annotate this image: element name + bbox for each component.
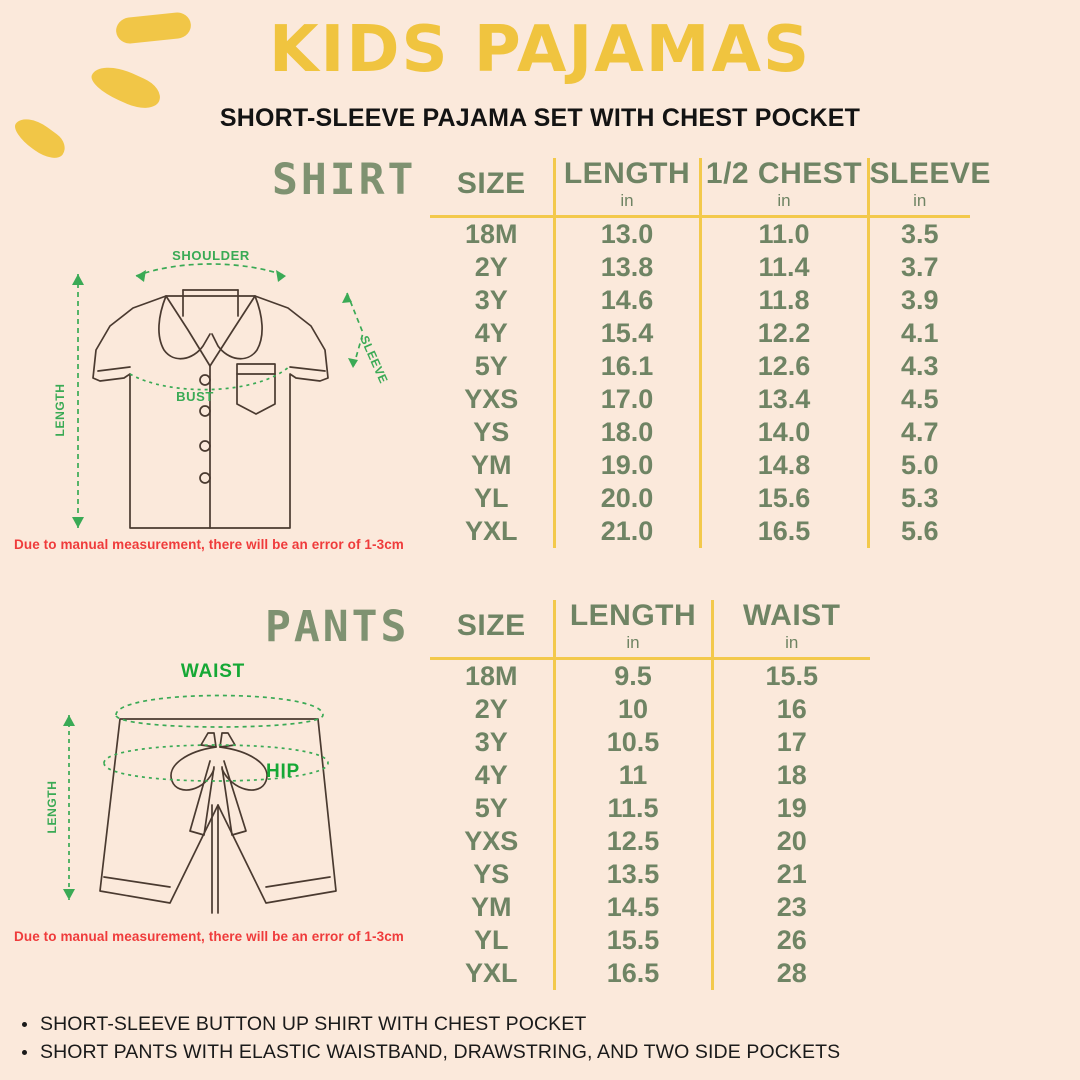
- table-row: YL20.015.65.3: [430, 482, 970, 515]
- shirt-cell-length: 16.1: [554, 350, 700, 383]
- shirt-measurement-diagram: SHOULDER SLEEVE BUST LENGTH: [38, 238, 413, 538]
- pants-cell-length: 16.5: [554, 957, 712, 990]
- shirt-cell-sleeve: 3.7: [868, 251, 970, 284]
- table-row: YXS12.520: [430, 825, 870, 858]
- pants-cell-size: YL: [430, 924, 554, 957]
- section-label-pants: PANTS: [265, 602, 409, 652]
- shirt-col-length: LENGTH in: [554, 158, 700, 215]
- pants-cell-size: YXS: [430, 825, 554, 858]
- pants-cell-size: YXL: [430, 957, 554, 990]
- shirt-cell-half_chest: 14.0: [700, 416, 868, 449]
- shirt-cell-sleeve: 3.9: [868, 284, 970, 317]
- pants-label-waist: WAIST: [181, 661, 245, 682]
- shirt-cell-size: 4Y: [430, 317, 554, 350]
- shirt-cell-size: 3Y: [430, 284, 554, 317]
- shirt-col-half-chest: 1/2 CHEST in: [700, 158, 868, 215]
- pants-cell-length: 12.5: [554, 825, 712, 858]
- shirt-label-bust: BUST: [176, 389, 214, 404]
- pants-cell-waist: 17: [712, 726, 870, 759]
- pants-measurement-diagram: WAIST HIP LENGTH: [38, 655, 413, 930]
- shirt-cell-sleeve: 4.7: [868, 416, 970, 449]
- feature-list: SHORT-SLEEVE BUTTON UP SHIRT WITH CHEST …: [14, 1013, 1064, 1069]
- shirt-table-body: 18M13.011.03.52Y13.811.43.73Y14.611.83.9…: [430, 218, 970, 548]
- pants-cell-length: 9.5: [554, 660, 712, 693]
- shirt-cell-sleeve: 5.0: [868, 449, 970, 482]
- shirt-cell-size: YXL: [430, 515, 554, 548]
- shirt-cell-size: 18M: [430, 218, 554, 251]
- shirt-cell-sleeve: 4.3: [868, 350, 970, 383]
- shirt-cell-length: 15.4: [554, 317, 700, 350]
- shirt-cell-length: 13.8: [554, 251, 700, 284]
- pants-cell-waist: 26: [712, 924, 870, 957]
- pants-cell-length: 13.5: [554, 858, 712, 891]
- shirt-cell-half_chest: 16.5: [700, 515, 868, 548]
- table-row: 2Y13.811.43.7: [430, 251, 970, 284]
- pants-table-body: 18M9.515.52Y10163Y10.5174Y11185Y11.519YX…: [430, 660, 870, 990]
- shirt-cell-length: 17.0: [554, 383, 700, 416]
- shirt-cell-length: 21.0: [554, 515, 700, 548]
- shirt-col-sleeve: SLEEVE in: [868, 158, 970, 215]
- table-row: YXL16.528: [430, 957, 870, 990]
- shirt-measurement-note: Due to manual measurement, there will be…: [14, 537, 404, 552]
- pants-cell-waist: 23: [712, 891, 870, 924]
- shirt-cell-length: 18.0: [554, 416, 700, 449]
- shirt-cell-size: YM: [430, 449, 554, 482]
- pants-cell-waist: 15.5: [712, 660, 870, 693]
- pants-cell-size: 4Y: [430, 759, 554, 792]
- shirt-cell-sleeve: 4.5: [868, 383, 970, 416]
- shirt-cell-half_chest: 12.2: [700, 317, 868, 350]
- pants-col-length: LENGTH in: [554, 600, 712, 657]
- pants-cell-waist: 28: [712, 957, 870, 990]
- pants-cell-waist: 20: [712, 825, 870, 858]
- shirt-cell-size: YXS: [430, 383, 554, 416]
- pants-cell-waist: 16: [712, 693, 870, 726]
- pants-cell-size: YM: [430, 891, 554, 924]
- pants-cell-waist: 18: [712, 759, 870, 792]
- pants-cell-length: 11: [554, 759, 712, 792]
- pants-cell-length: 10: [554, 693, 712, 726]
- table-row: YXS17.013.44.5: [430, 383, 970, 416]
- table-row: YL15.526: [430, 924, 870, 957]
- shirt-label-shoulder: SHOULDER: [172, 248, 250, 263]
- table-row: YM14.523: [430, 891, 870, 924]
- shirt-cell-sleeve: 5.6: [868, 515, 970, 548]
- table-row: 5Y11.519: [430, 792, 870, 825]
- shirt-cell-half_chest: 11.0: [700, 218, 868, 251]
- pants-cell-length: 11.5: [554, 792, 712, 825]
- table-row: 4Y1118: [430, 759, 870, 792]
- shirt-cell-sleeve: 3.5: [868, 218, 970, 251]
- shirt-cell-half_chest: 12.6: [700, 350, 868, 383]
- table-row: 18M9.515.5: [430, 660, 870, 693]
- pants-cell-waist: 21: [712, 858, 870, 891]
- shirt-cell-half_chest: 14.8: [700, 449, 868, 482]
- pants-measurement-note: Due to manual measurement, there will be…: [14, 929, 404, 944]
- list-item: SHORT PANTS WITH ELASTIC WAISTBAND, DRAW…: [14, 1041, 1064, 1064]
- feature-list-items: SHORT-SLEEVE BUTTON UP SHIRT WITH CHEST …: [14, 1013, 1064, 1064]
- pants-col-size: SIZE: [430, 600, 554, 657]
- pants-cell-size: 3Y: [430, 726, 554, 759]
- shirt-cell-length: 14.6: [554, 284, 700, 317]
- shirt-col-size: SIZE: [430, 158, 554, 215]
- shirt-label-sleeve: SLEEVE: [357, 334, 391, 386]
- shirt-cell-sleeve: 5.3: [868, 482, 970, 515]
- pants-size-table: SIZE LENGTH in WAIST in 18M9.515.52Y1016…: [430, 600, 870, 990]
- section-label-shirt: SHIRT: [272, 155, 416, 205]
- shirt-cell-size: YL: [430, 482, 554, 515]
- table-row: YXL21.016.55.6: [430, 515, 970, 548]
- shirt-cell-length: 20.0: [554, 482, 700, 515]
- pants-cell-size: YS: [430, 858, 554, 891]
- pants-cell-length: 15.5: [554, 924, 712, 957]
- pants-cell-length: 10.5: [554, 726, 712, 759]
- pants-cell-size: 18M: [430, 660, 554, 693]
- shirt-label-length: LENGTH: [53, 384, 67, 437]
- pants-cell-waist: 19: [712, 792, 870, 825]
- table-row: 3Y10.517: [430, 726, 870, 759]
- table-row: YM19.014.85.0: [430, 449, 970, 482]
- pants-cell-size: 2Y: [430, 693, 554, 726]
- pants-label-hip: HIP: [266, 761, 300, 782]
- table-row: 3Y14.611.83.9: [430, 284, 970, 317]
- list-item: SHORT-SLEEVE BUTTON UP SHIRT WITH CHEST …: [14, 1013, 1064, 1036]
- pants-cell-length: 14.5: [554, 891, 712, 924]
- shirt-cell-size: 5Y: [430, 350, 554, 383]
- shirt-cell-size: YS: [430, 416, 554, 449]
- pants-col-waist: WAIST in: [712, 600, 870, 657]
- shirt-cell-half_chest: 11.4: [700, 251, 868, 284]
- shirt-size-table: SIZE LENGTH in 1/2 CHEST in SLEEVE in: [430, 158, 970, 548]
- table-row: YS13.521: [430, 858, 870, 891]
- shirt-cell-half_chest: 11.8: [700, 284, 868, 317]
- table-row: 2Y1016: [430, 693, 870, 726]
- shirt-cell-half_chest: 13.4: [700, 383, 868, 416]
- table-row: 5Y16.112.64.3: [430, 350, 970, 383]
- page-title: KIDS PAJAMAS: [0, 18, 1080, 82]
- pants-label-length: LENGTH: [45, 781, 59, 834]
- table-row: 18M13.011.03.5: [430, 218, 970, 251]
- shirt-cell-length: 13.0: [554, 218, 700, 251]
- shirt-cell-length: 19.0: [554, 449, 700, 482]
- shirt-cell-half_chest: 15.6: [700, 482, 868, 515]
- shirt-cell-sleeve: 4.1: [868, 317, 970, 350]
- table-row: 4Y15.412.24.1: [430, 317, 970, 350]
- shirt-cell-size: 2Y: [430, 251, 554, 284]
- pants-cell-size: 5Y: [430, 792, 554, 825]
- size-chart-page: KIDS PAJAMAS SHORT-SLEEVE PAJAMA SET WIT…: [0, 0, 1080, 1080]
- page-subtitle: SHORT-SLEEVE PAJAMA SET WITH CHEST POCKE…: [0, 104, 1080, 133]
- table-row: YS18.014.04.7: [430, 416, 970, 449]
